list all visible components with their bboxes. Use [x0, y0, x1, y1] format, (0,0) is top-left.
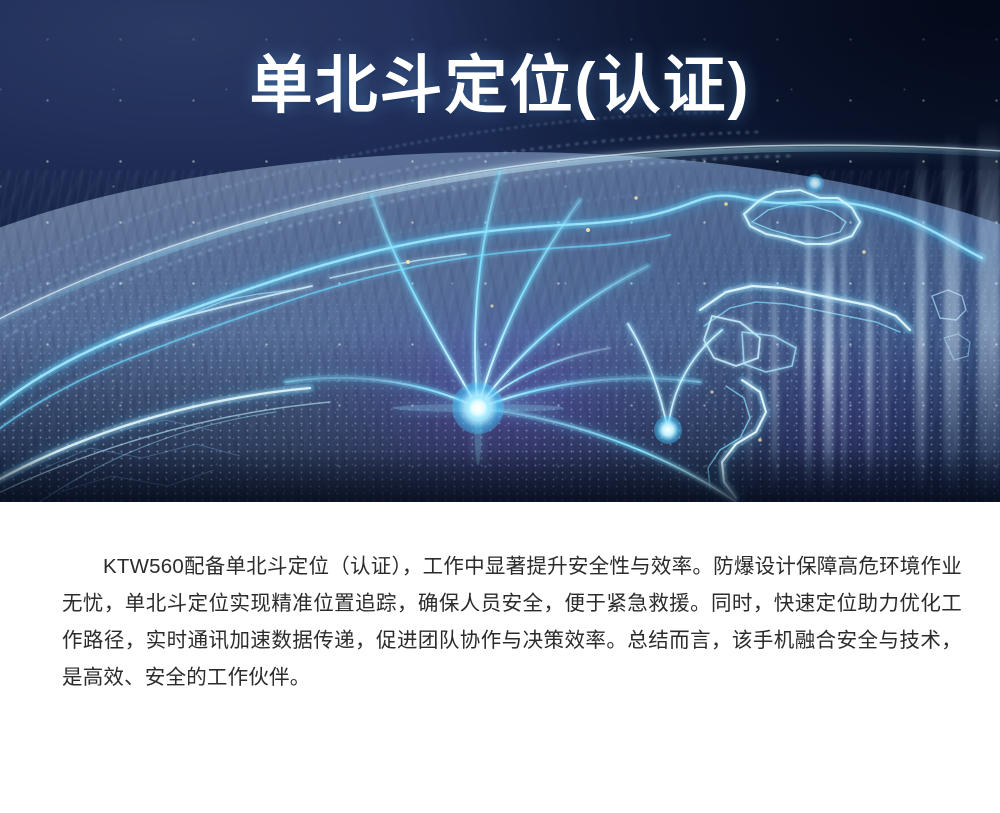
signal-node-secondary	[654, 416, 682, 444]
hero-bottom-fade	[0, 450, 1000, 502]
signal-node-north	[806, 174, 824, 192]
page-title: 单北斗定位(认证)	[0, 52, 1000, 120]
signal-hub-core	[466, 396, 490, 420]
light-beam	[978, 120, 1000, 502]
light-beam	[944, 132, 960, 502]
product-description-paragraph: KTW560配备单北斗定位（认证），工作中显著提升安全性与效率。防爆设计保障高危…	[62, 548, 962, 696]
hero-banner: 单北斗定位(认证)	[0, 0, 1000, 502]
product-detail-page: 单北斗定位(认证) KTW560配备单北斗定位（认证），工作中显著提升安全性与效…	[0, 0, 1000, 813]
